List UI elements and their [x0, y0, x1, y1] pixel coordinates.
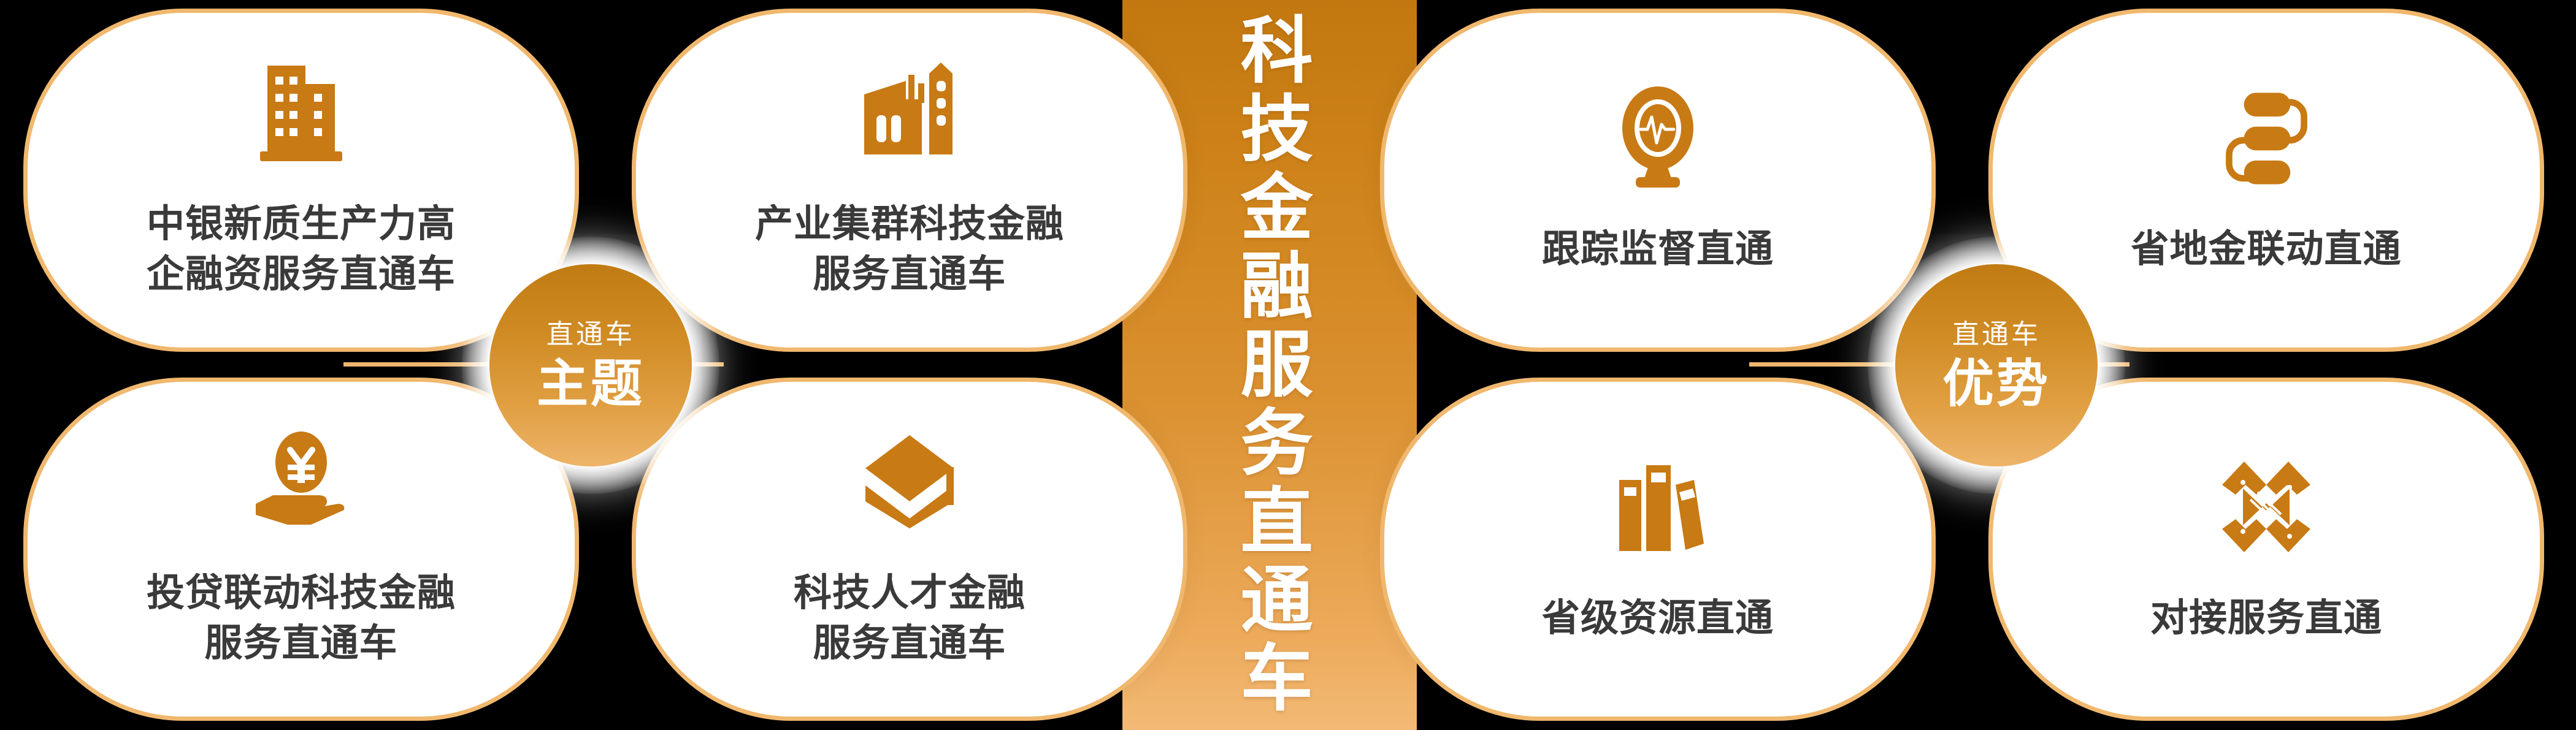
badge-advantage[interactable]: 直通车 优势: [1895, 264, 2098, 466]
badge-title: 优势: [1942, 358, 2050, 409]
flow-link-icon: [2217, 86, 2315, 190]
card-label: 省级资源直通: [1542, 593, 1774, 644]
card-label: 对接服务直通: [2150, 593, 2382, 644]
books-icon: [1609, 455, 1707, 559]
badge-subtitle: 直通车: [1952, 321, 2041, 348]
card-label: 科技人才金融 服务直通车: [794, 568, 1025, 669]
card-label: 中银新质生产力高 企融资服务直通车: [147, 199, 456, 300]
badge-title: 主题: [537, 358, 645, 409]
factory-icon: [861, 61, 959, 165]
card-advantage-3[interactable]: 省级资源直通: [1380, 378, 1936, 721]
monitor-pulse-icon: [1609, 86, 1707, 190]
card-label: 产业集群科技金融 服务直通车: [755, 199, 1064, 300]
card-advantage-1[interactable]: 跟踪监督直通: [1380, 9, 1936, 352]
card-label: 投贷联动科技金融 服务直通车: [147, 568, 456, 669]
hand-yuan-icon: [252, 430, 350, 534]
card-label: 省地金联动直通: [2131, 224, 2401, 275]
card-label: 跟踪监督直通: [1542, 224, 1774, 275]
card-theme-4[interactable]: 科技人才金融 服务直通车: [632, 378, 1187, 721]
badge-subtitle: 直通车: [546, 321, 635, 348]
handshake-icon: [2217, 455, 2315, 559]
badge-theme[interactable]: 直通车 主题: [489, 264, 692, 466]
office-building-icon: [252, 61, 350, 165]
graduation-cap-icon: [861, 430, 959, 534]
banner-title: 科技金融服务直通车: [1233, 12, 1306, 718]
card-theme-2[interactable]: 产业集群科技金融 服务直通车: [632, 9, 1187, 352]
infographic-root: 科技金融服务直通车 中银新质生产力高 企融资: [0, 0, 2576, 730]
